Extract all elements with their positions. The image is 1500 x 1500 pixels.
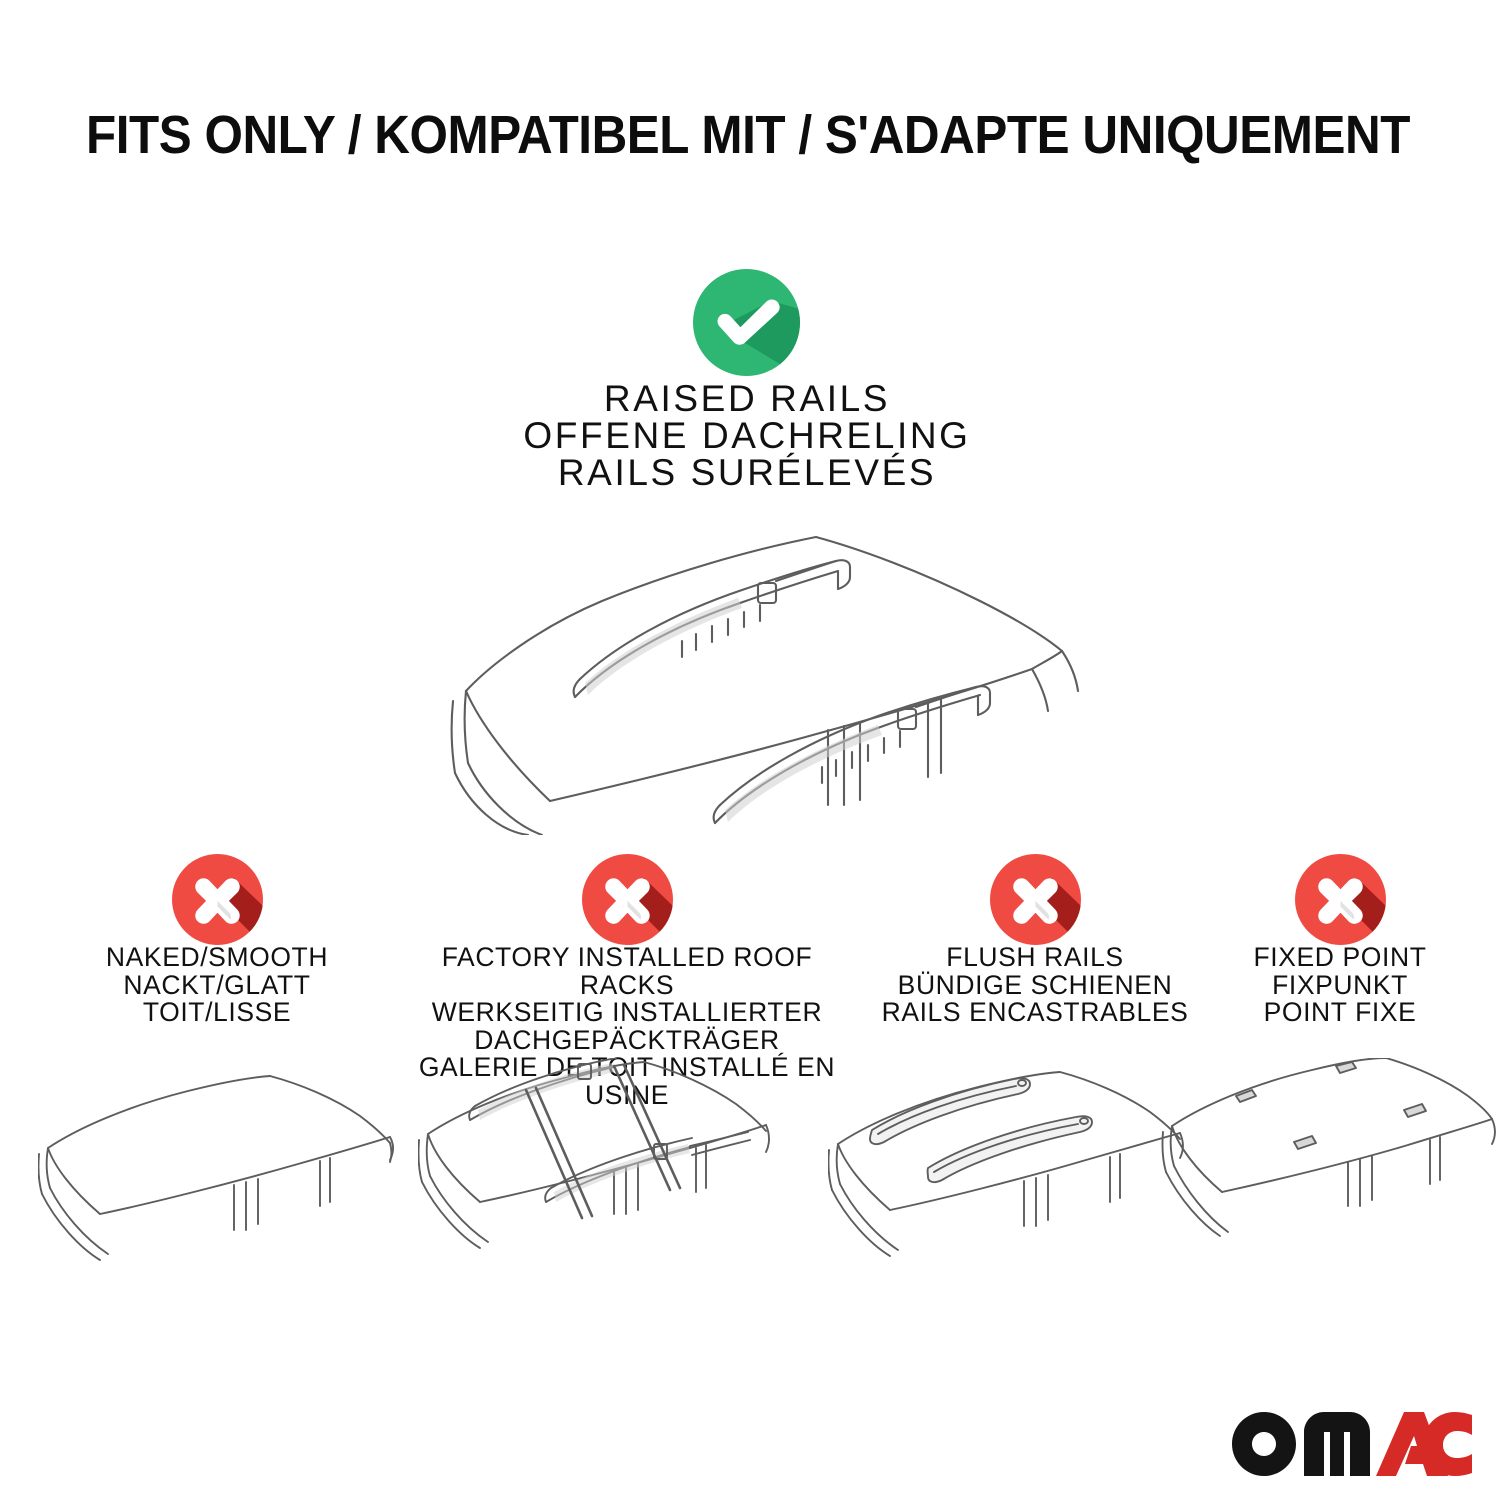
label-line-de-2: DACHGEPÄCKTRÄGER [397,1027,857,1055]
label-line-en: FIXED POINT [1215,944,1465,972]
label-line-en: NAKED/SMOOTH [27,944,407,972]
omac-logo [1232,1412,1472,1476]
label-line-fr: POINT FIXE [1215,999,1465,1027]
car-roof-fixed-point-illustration [1158,1058,1500,1308]
car-roof-naked-smooth-illustration [38,1058,418,1308]
compatible-label-line-en: RAISED RAILS [447,380,1047,417]
check-circle-icon [693,269,800,376]
car-roof-factory-racks-illustration [418,1058,798,1308]
label-line-en: FACTORY INSTALLED ROOF RACKS [397,944,857,999]
incompatible-label-naked-smooth: NAKED/SMOOTH NACKT/GLATT TOIT/LISSE [27,944,407,1027]
compatible-label: RAISED RAILS OFFENE DACHRELING RAILS SUR… [447,380,1047,491]
label-line-de: FIXPUNKT [1215,972,1465,1000]
label-line-en: FLUSH RAILS [855,944,1215,972]
label-line-fr: RAILS ENCASTRABLES [855,999,1215,1027]
compatible-label-line-fr: RAILS SURÉLEVÉS [447,454,1047,491]
car-roof-flush-rails-illustration [828,1058,1208,1308]
logo-letter-o [1232,1412,1296,1476]
label-line-de-1: WERKSEITIG INSTALLIERTER [397,999,857,1027]
label-line-de: NACKT/GLATT [27,972,407,1000]
incompatible-label-fixed-point: FIXED POINT FIXPUNKT POINT FIXE [1215,944,1465,1027]
compatible-label-line-de: OFFENE DACHRELING [447,417,1047,454]
logo-letter-m [1304,1412,1370,1476]
x-circle-icon [990,854,1081,945]
fitment-compatibility-infographic: FITS ONLY / KOMPATIBEL MIT / S'ADAPTE UN… [0,0,1500,1500]
x-circle-icon [172,854,263,945]
x-circle-icon [582,854,673,945]
x-circle-icon [1295,854,1386,945]
page-title: FITS ONLY / KOMPATIBEL MIT / S'ADAPTE UN… [86,108,1312,162]
incompatible-label-flush-rails: FLUSH RAILS BÜNDIGE SCHIENEN RAILS ENCAS… [855,944,1215,1027]
label-line-fr: TOIT/LISSE [27,999,407,1027]
car-roof-raised-rails-illustration [420,505,1100,835]
label-line-de: BÜNDIGE SCHIENEN [855,972,1215,1000]
